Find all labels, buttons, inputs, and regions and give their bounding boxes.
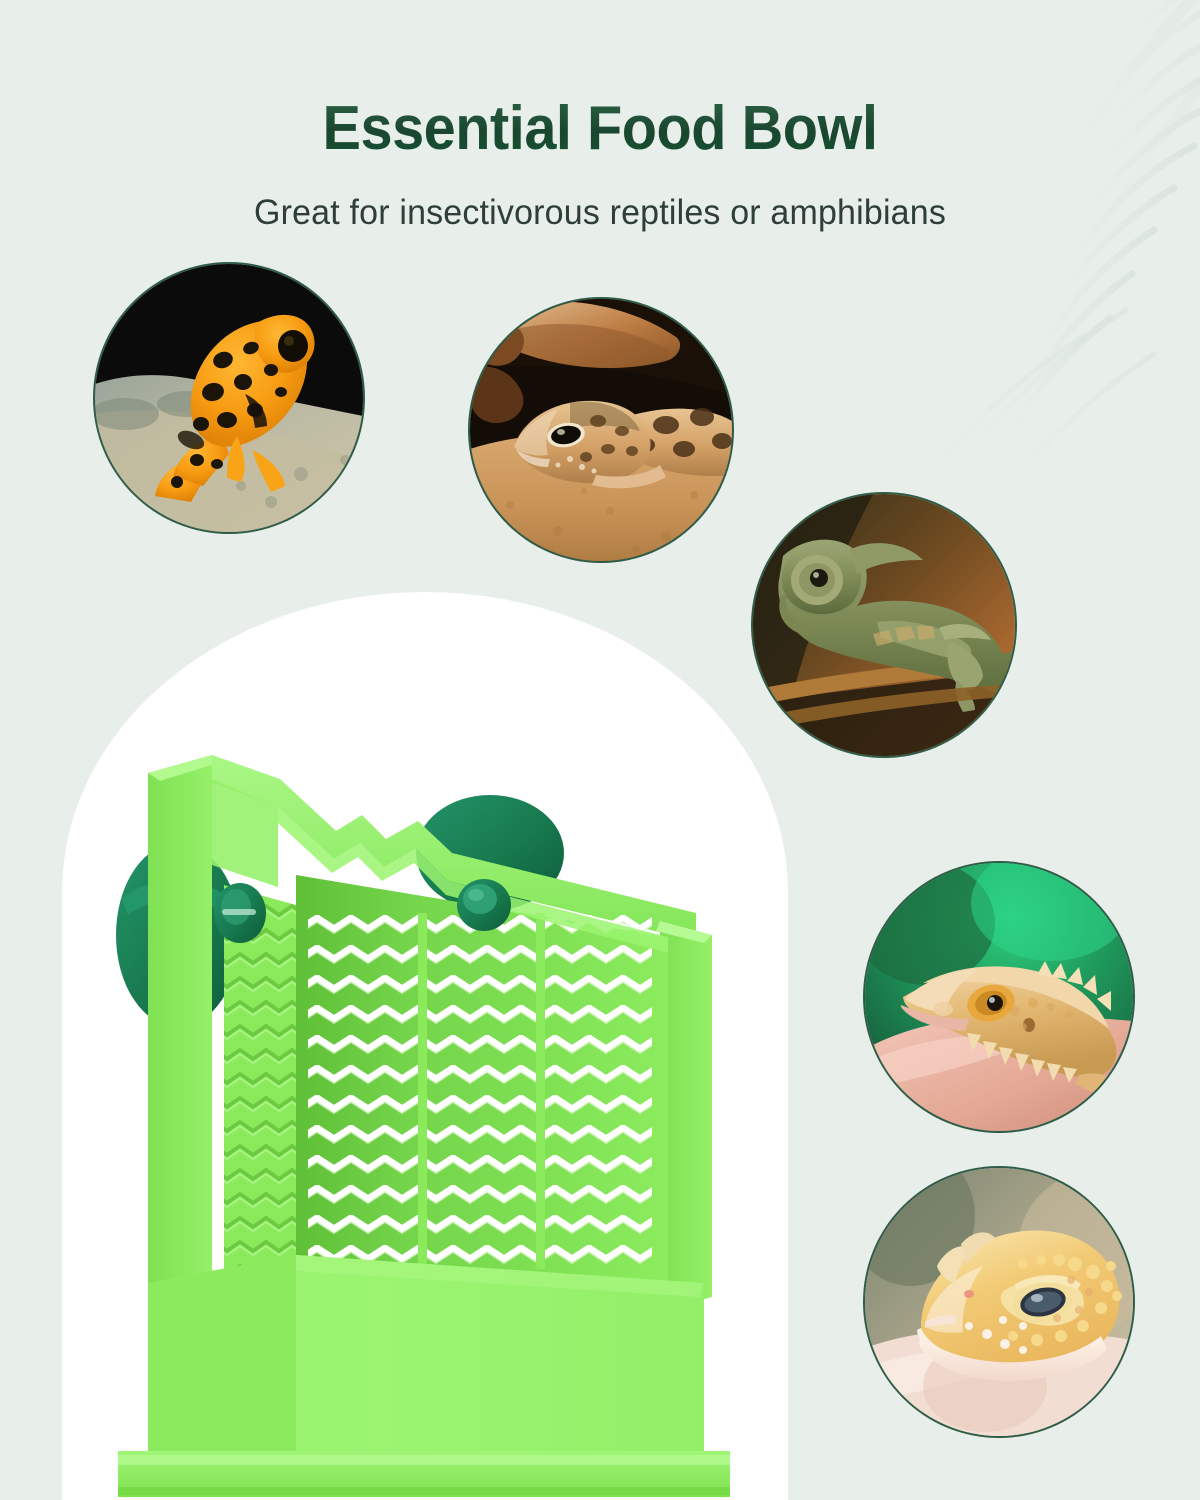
- product-marketing-image: Essential Food Bowl Great for insectivor…: [0, 0, 1200, 1500]
- product-alt-text: Bright green escape-proof reptile feeder…: [0, 0, 1, 1]
- photo-veiled-chameleon: [753, 494, 1015, 756]
- left-outer-wall: [148, 755, 212, 1295]
- reptile-feeding-bowl: [100, 735, 740, 1500]
- zigzag-slats: [308, 913, 652, 1269]
- page-subtitle: Great for insectivorous reptiles or amph…: [18, 193, 1182, 233]
- suction-cup-knob-left: [214, 883, 266, 943]
- photo-bearded-dragon: [865, 863, 1133, 1131]
- photo-poison-dart-frog: [95, 264, 363, 532]
- suction-cup-knob-right: [457, 879, 511, 931]
- page-title: Essential Food Bowl: [42, 96, 1158, 161]
- photo-leopard-gecko-closeup: [865, 1168, 1133, 1436]
- photo-leopard-gecko-sand: [470, 299, 732, 561]
- palm-frond-watermark: [680, 0, 1200, 530]
